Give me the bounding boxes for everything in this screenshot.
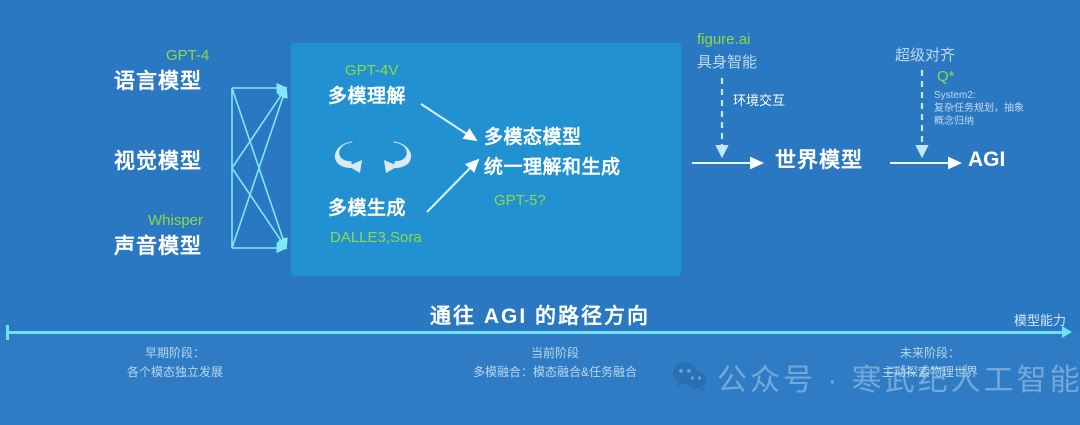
node-multimodal-understanding: 多模理解 (328, 86, 406, 108)
stage-current-name: 当前阶段 (415, 344, 695, 363)
wechat-icon (672, 362, 708, 392)
edge-label-environment-interaction: 环境交互 (733, 94, 785, 109)
node-world-model: 世界模型 (775, 149, 863, 173)
node-tag-gpt4: GPT-4 (166, 47, 209, 64)
agi-detail-line-3: 概念归纳 (934, 116, 974, 128)
node-tag-whisper: Whisper (148, 212, 203, 229)
stage-current: 当前阶段 多模融合：模态融合&任务融合 (415, 344, 695, 381)
stage-early-desc: 各个模态独立发展 (65, 363, 285, 382)
stage-current-desc: 多模融合：模态融合&任务融合 (415, 363, 695, 382)
super-alignment-label: 超级对齐 (895, 47, 955, 64)
axis-capability-label: 模型能力 (1014, 310, 1066, 329)
result-line-1: 多模态模型 (484, 127, 582, 149)
q-star-tag: Q* (937, 68, 955, 85)
node-language-model: 语言模型 (114, 70, 202, 94)
node-agi: AGI (968, 148, 1005, 172)
agi-detail-line-1: System2: (934, 90, 976, 102)
node-vision-model: 视觉模型 (114, 150, 202, 174)
result-tag-gpt5: GPT-5? (494, 192, 546, 209)
figure-ai-tag: figure.ai (697, 31, 750, 48)
stage-early-name: 早期阶段： (65, 344, 285, 363)
node-multimodal-generation: 多模生成 (328, 198, 406, 220)
node-tag-dalle-sora: DALLE3,Sora (330, 229, 422, 246)
stage-early: 早期阶段： 各个模态独立发展 (65, 344, 285, 381)
embodied-intelligence-label: 具身智能 (697, 54, 757, 71)
watermark-text: 公众号 · 寒武纪人工智能 (717, 355, 1080, 399)
node-audio-model: 声音模型 (114, 235, 202, 259)
agi-detail-line-2: 复杂任务规划，抽象 (934, 103, 1024, 115)
infographic-canvas: GPT-4 语言模型 视觉模型 Whisper 声音模型 GPT-4V 多模理解… (0, 0, 1080, 425)
result-line-2: 统一理解和生成 (484, 157, 621, 179)
watermark: 公众号 · 寒武纪人工智能 (672, 355, 1080, 399)
capability-axis-line (8, 331, 1066, 334)
node-tag-gpt4v: GPT-4V (345, 62, 398, 79)
page-title: 通往 AGI 的路径方向 (0, 300, 1080, 330)
